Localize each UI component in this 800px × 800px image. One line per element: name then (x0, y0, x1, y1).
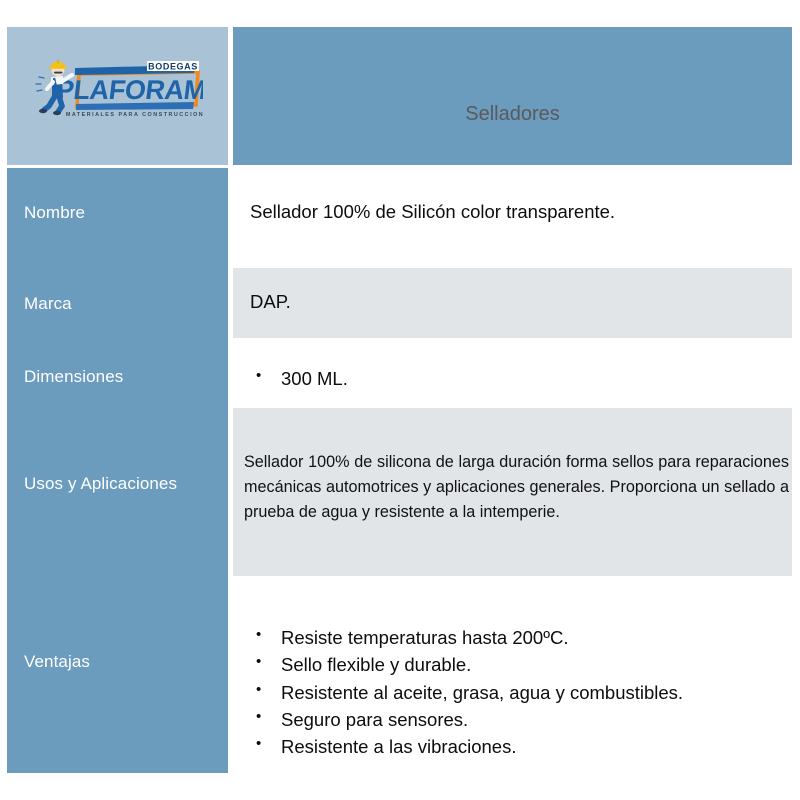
row-value-nombre: Sellador 100% de Silicón color transpare… (250, 200, 787, 223)
logo-bodegas-text: BODEGAS (148, 61, 198, 71)
value-cell-nombre: Sellador 100% de Silicón color transpare… (233, 168, 792, 264)
row-value-marca: DAP. (250, 290, 787, 313)
row-label: Usos y Aplicaciones (24, 474, 177, 494)
list-item: Resistente al aceite, grasa, agua y comb… (250, 680, 787, 706)
dimensiones-list: 300 ML. (250, 366, 787, 393)
row-label: Dimensiones (24, 367, 123, 387)
label-cell-marca: Marca (7, 264, 228, 350)
list-item: 300 ML. (250, 366, 787, 392)
value-cell-marca: DAP. (233, 268, 792, 338)
row-label: Marca (24, 294, 72, 314)
row-value-usos: Sellador 100% de silicona de larga durac… (244, 450, 789, 525)
list-item: Sello flexible y durable. (250, 652, 787, 678)
value-cell-ventajas: Resiste temperaturas hasta 200ºC. Sello … (233, 576, 792, 773)
row-label: Ventajas (24, 652, 90, 672)
list-item: Seguro para sensores. (250, 707, 787, 733)
page-title: Selladores (233, 103, 792, 126)
list-item: Resistente a las vibraciones. (250, 734, 787, 760)
logo-tagline-text: MATERIALES PARA CONSTRUCCION (66, 112, 203, 118)
label-cell-dimensiones: Dimensiones (7, 350, 228, 408)
header-cell: Selladores (233, 27, 792, 165)
label-cell-usos: Usos y Aplicaciones (7, 408, 228, 576)
logo-wordmark-text: PLAFORAMA (54, 74, 203, 105)
value-cell-usos: Sellador 100% de silicona de larga durac… (233, 408, 792, 579)
list-item: Resiste temperaturas hasta 200ºC. (250, 625, 787, 651)
product-spec-sheet: BODEGAS PLAFORAMA MATERIALES PARA CONSTR… (0, 0, 800, 800)
ventajas-list: Resiste temperaturas hasta 200ºC. Sello … (250, 625, 787, 761)
row-label: Nombre (24, 203, 85, 223)
product-table: BODEGAS PLAFORAMA MATERIALES PARA CONSTR… (7, 27, 792, 773)
logo-cell: BODEGAS PLAFORAMA MATERIALES PARA CONSTR… (7, 27, 228, 165)
label-cell-ventajas: Ventajas (7, 576, 228, 773)
value-cell-dimensiones: 300 ML. (233, 350, 792, 408)
plaforama-logo: BODEGAS PLAFORAMA MATERIALES PARA CONSTR… (35, 54, 203, 122)
label-cell-nombre: Nombre (7, 168, 228, 264)
